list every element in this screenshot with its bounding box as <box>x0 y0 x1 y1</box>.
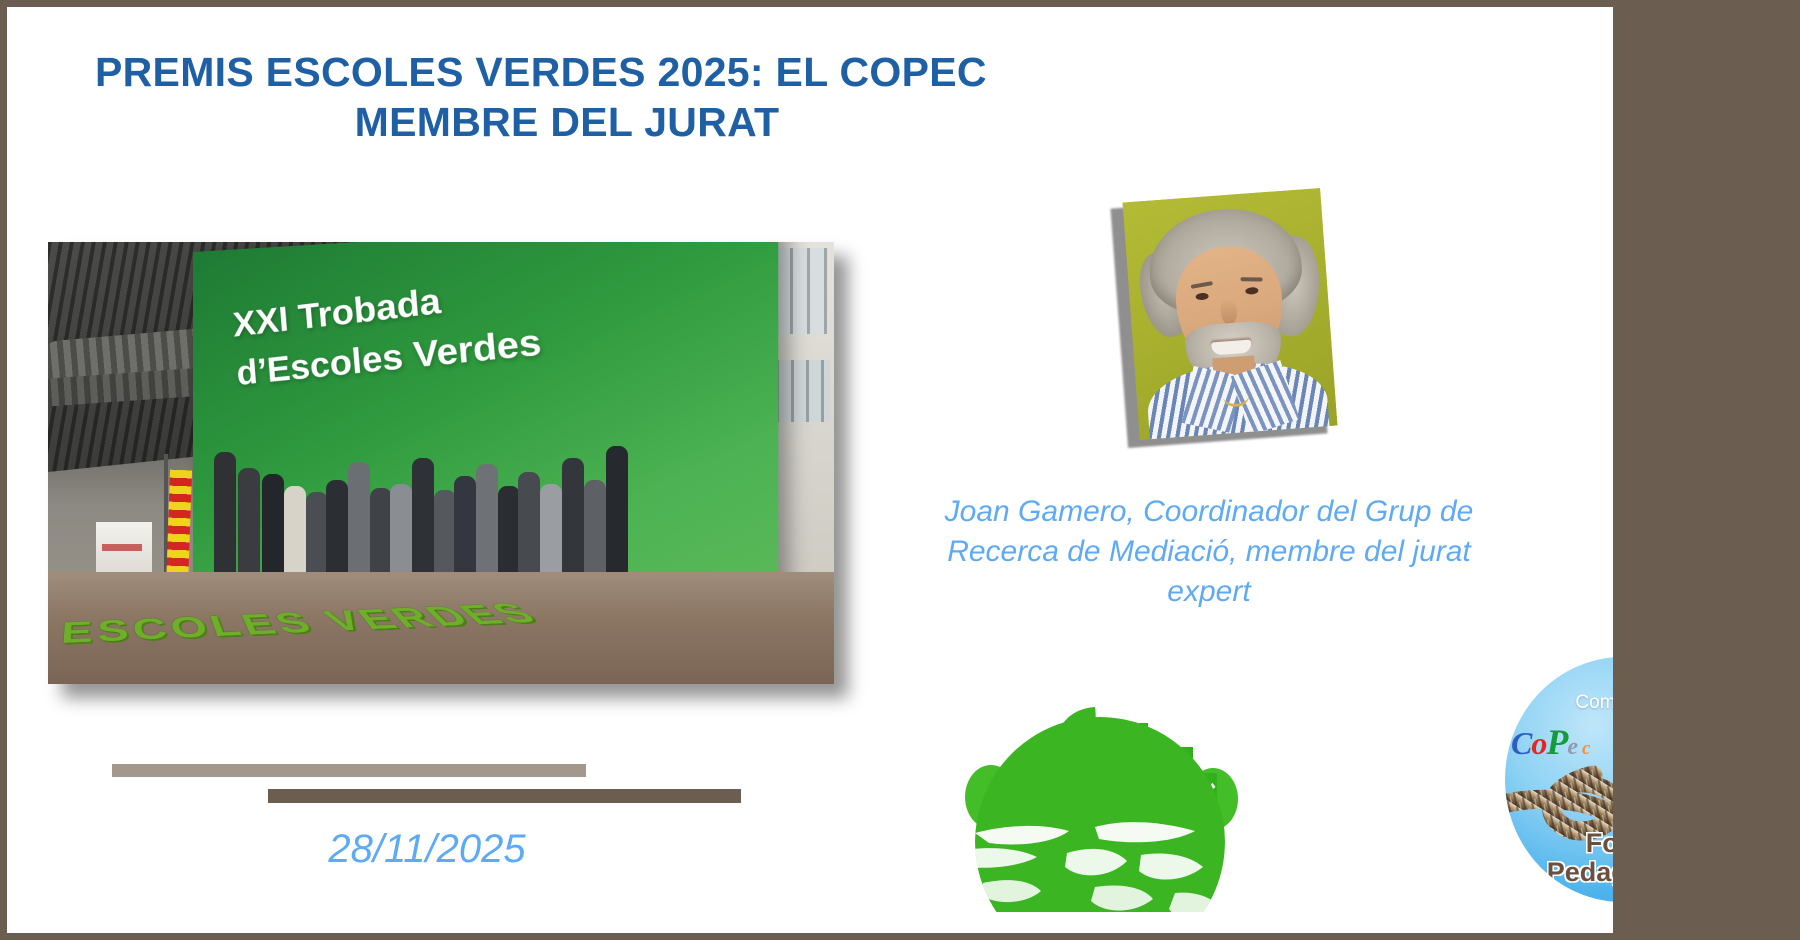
copec-tagline: Força Pedagògica <box>1505 829 1613 888</box>
event-date: 28/11/2025 <box>112 827 742 872</box>
copec-tagline-forca: Força <box>1505 829 1613 859</box>
photo-people-group <box>214 434 644 584</box>
copec-logo-circle: Tradició Compromís Innovació CoPec <box>1505 657 1613 902</box>
portrait-caption: Joan Gamero, Coordinador del Grup de Rec… <box>919 492 1499 612</box>
copec-tagline-pedagogica: Pedagògica <box>1505 858 1613 888</box>
event-photo: XXI Trobada d’Escoles Verdes <box>48 242 834 684</box>
page-title-line-2: MEMBRE DEL JURAT <box>67 97 1067 147</box>
backdrop-title: XXI Trobada d’Escoles Verdes <box>231 263 543 398</box>
decor-bar-dark <box>268 789 741 803</box>
portrait-eyebrow-right <box>1240 277 1262 281</box>
portrait-photo <box>1125 195 1325 435</box>
slide-canvas: PREMIS ESCOLES VERDES 2025: EL COPEC MEM… <box>7 7 1613 933</box>
copec-logo: Tradició Compromís Innovació CoPec <box>1505 657 1613 902</box>
copec-slogan-compromis: Compromís <box>1505 692 1613 713</box>
photo-catalan-flag <box>166 470 192 589</box>
portrait-frame <box>1123 188 1338 440</box>
decor-bar-light <box>112 764 586 777</box>
globe-icon <box>945 717 1225 912</box>
right-border-band <box>1613 0 1800 940</box>
copec-slogan-tradicio: Tradició <box>1505 671 1613 692</box>
page-title-line-1: PREMIS ESCOLES VERDES 2025: EL COPEC <box>67 47 1067 97</box>
eco-globe-graphic <box>945 647 1255 912</box>
page-title: PREMIS ESCOLES VERDES 2025: EL COPEC MEM… <box>67 47 1067 147</box>
